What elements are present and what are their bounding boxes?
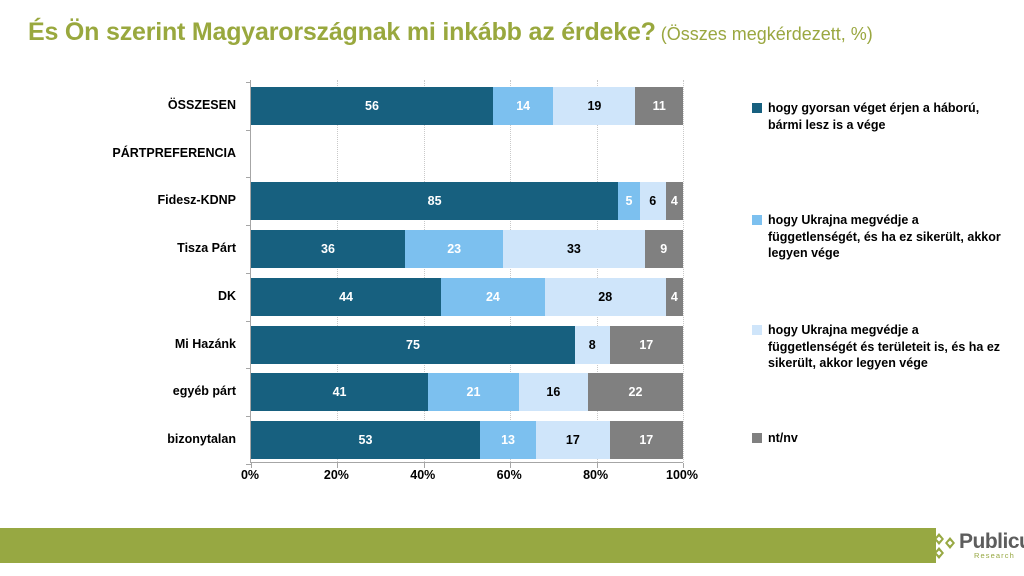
category-label: ÖSSZESEN [6,99,236,112]
bar-segment: 23 [405,230,503,268]
footer-band [0,528,936,563]
bar-segment: 28 [545,278,666,316]
legend-swatch-icon [752,433,762,443]
bar-segment: 56 [251,87,493,125]
bar-segment: 11 [635,87,683,125]
category-label: bizonytalan [6,433,236,446]
y-axis-tick [246,416,251,417]
bar-row: 85564 [251,182,683,220]
legend-item[interactable]: nt/nv [752,430,1004,447]
category-label: PÁRTPREFERENCIA [6,147,236,160]
bar-segment: 75 [251,326,575,364]
publicus-logo: Publicus Research [930,528,1024,568]
bar-segment: 17 [610,421,683,459]
category-label: Fidesz-KDNP [6,194,236,207]
y-axis-tick [246,130,251,131]
logo-wordmark: Publicus [959,531,1024,552]
legend-swatch-icon [752,215,762,225]
y-axis-tick [246,321,251,322]
x-axis-tick-label: 60% [497,468,522,482]
bar-row: 3623339 [251,230,683,268]
page-title-subtitle: (Összes megkérdezett, %) [661,24,873,44]
bar-row: 4424284 [251,278,683,316]
legend-swatch-icon [752,103,762,113]
bar-segment: 53 [251,421,480,459]
bar-segment: 41 [251,373,428,411]
legend-label: hogy gyorsan véget érjen a háború, bármi… [768,100,1004,133]
gridline [683,80,684,462]
bar-segment: 6 [640,182,666,220]
bar-row: 56141911 [251,87,683,125]
bar-segment: 36 [251,230,405,268]
category-label: egyéb párt [6,385,236,398]
plot-area: 5614191185564362333944242847581741211622… [250,80,683,463]
bar-segment: 4 [666,278,683,316]
y-axis-tick [246,225,251,226]
legend-label: hogy Ukrajna megvédje a függetlenségét, … [768,212,1004,262]
page-title-main: És Ön szerint Magyarországnak mi inkább … [28,18,656,46]
x-axis-tick-label: 80% [583,468,608,482]
y-axis-tick [246,82,251,83]
bar-row: 75817 [251,326,683,364]
y-axis-tick [246,464,251,465]
bar-segment: 44 [251,278,441,316]
category-label: Tisza Párt [6,242,236,255]
bar-segment: 17 [610,326,683,364]
bar-segment: 22 [588,373,683,411]
bar-segment: 8 [575,326,610,364]
bar-segment: 19 [553,87,635,125]
legend-item[interactable]: hogy Ukrajna megvédje a függetlenségét é… [752,322,1004,372]
category-label: Mi Hazánk [6,338,236,351]
legend-item[interactable]: hogy Ukrajna megvédje a függetlenségét, … [752,212,1004,262]
category-label: DK [6,290,236,303]
legend-swatch-icon [752,325,762,335]
bar-segment: 33 [503,230,644,268]
page-title: És Ön szerint Magyarországnak mi inkább … [28,18,988,47]
bar-segment: 21 [428,373,519,411]
bar-segment: 14 [493,87,553,125]
bar-row: 41211622 [251,373,683,411]
bar-segment: 9 [645,230,683,268]
legend-label: hogy Ukrajna megvédje a függetlenségét é… [768,322,1004,372]
bar-segment: 16 [519,373,588,411]
bar-segment: 24 [441,278,545,316]
bar-segment: 85 [251,182,618,220]
y-axis-tick [246,368,251,369]
bar-segment: 5 [618,182,640,220]
legend-label: nt/nv [768,430,798,447]
category-axis: ÖSSZESENPÁRTPREFERENCIAFidesz-KDNPTisza … [0,80,250,462]
chart: ÖSSZESENPÁRTPREFERENCIAFidesz-KDNPTisza … [0,80,760,500]
y-axis-tick [246,177,251,178]
bar-segment: 13 [480,421,536,459]
y-axis-tick [246,273,251,274]
x-axis-labels: 0%20%40%60%80%100% [250,468,682,490]
x-axis-tick-label: 0% [241,468,259,482]
logo-tagline: Research [974,552,1015,560]
x-axis-tick-label: 20% [324,468,349,482]
bar-row: 53131717 [251,421,683,459]
x-axis-tick-label: 100% [666,468,698,482]
bar-segment: 17 [536,421,609,459]
diamond-logo-icon [930,532,958,560]
legend-item[interactable]: hogy gyorsan véget érjen a háború, bármi… [752,100,1004,133]
x-axis-tick-label: 40% [410,468,435,482]
bar-segment: 4 [666,182,683,220]
